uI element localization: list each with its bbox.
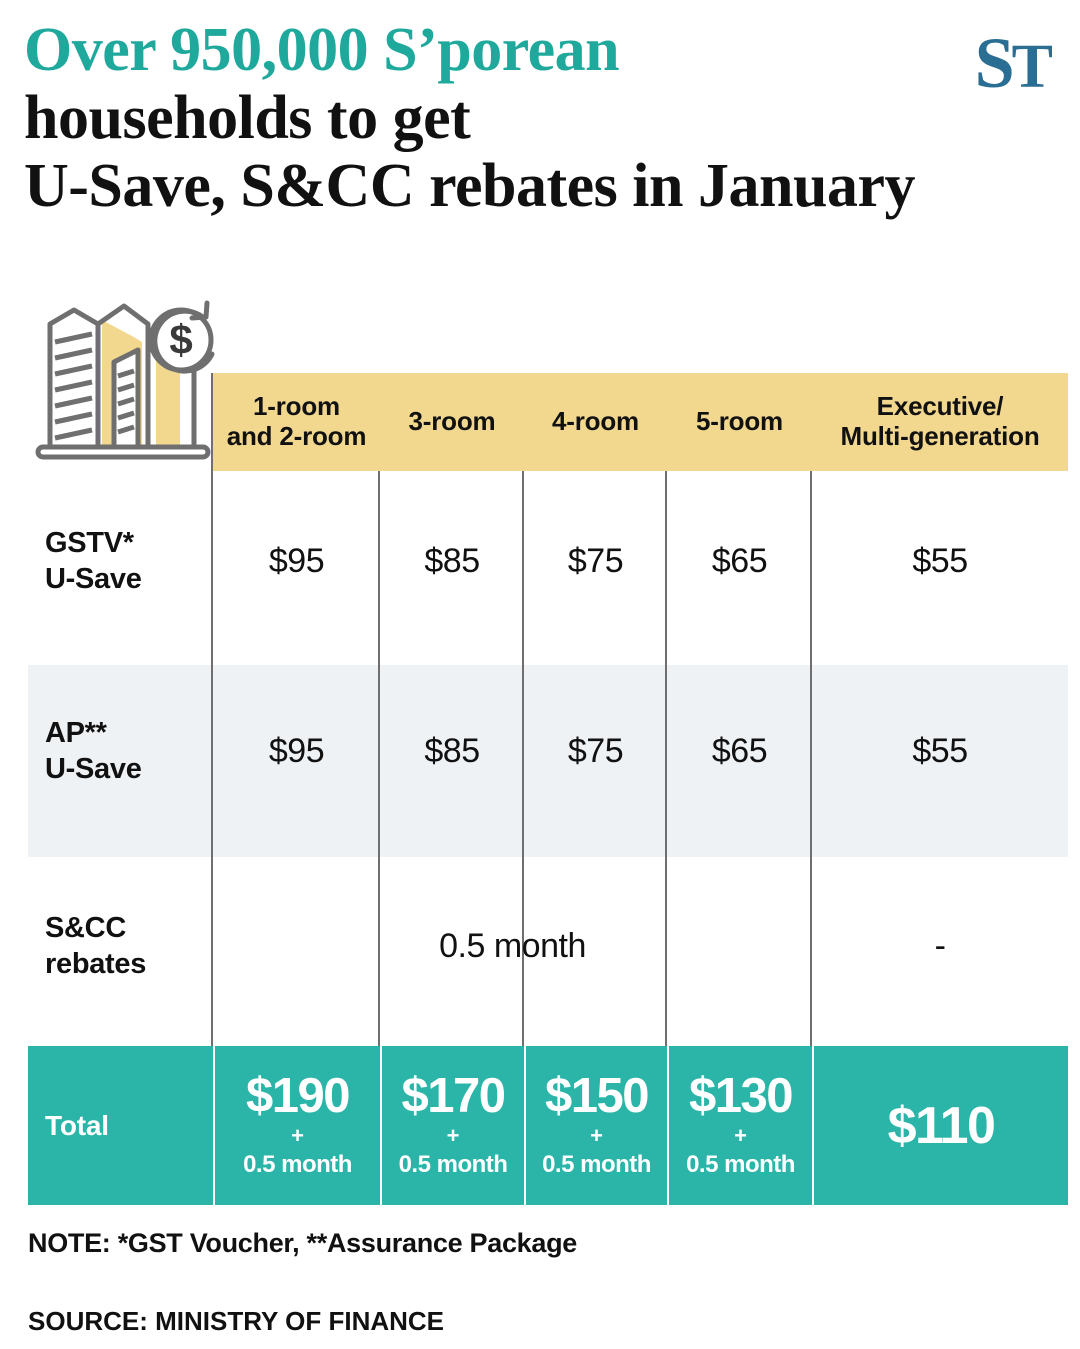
table-header-row: 1-room and 2-room 3-room 4-room 5-room E… — [213, 373, 1068, 471]
cell-gstv-4-room: $75 — [524, 471, 667, 651]
headline-line-2: households to get — [24, 84, 1044, 152]
cell-scc-merged-1-to-5-room: 0.5 month — [213, 851, 812, 1041]
cell-ap-executive: $55 — [812, 651, 1068, 851]
row-label-line1: GSTV* — [45, 525, 213, 561]
row-label-line2: U-Save — [45, 751, 213, 787]
cell-gstv-1-2-room: $95 — [213, 471, 380, 651]
cell-total-executive: $110 — [812, 1046, 1068, 1205]
logo-letter-s: S — [975, 23, 1012, 103]
logo-letter-t: T — [1012, 33, 1050, 101]
headline-line-3: U-Save, S&CC rebates in January — [24, 152, 1044, 220]
headline-line-1: Over 950,000 S’porean — [24, 16, 1044, 84]
column-header-line1: 3-room — [409, 407, 496, 437]
total-amount: $130 — [689, 1072, 792, 1121]
footnote-source: SOURCE: MINISTRY OF FINANCE — [28, 1306, 444, 1337]
row-label-line1: S&CC — [45, 910, 213, 946]
page-title: Over 950,000 S’porean households to get … — [24, 16, 1044, 221]
column-header-line2: and 2-room — [227, 422, 367, 452]
total-plus: + — [447, 1121, 460, 1152]
total-sub: 0.5 month — [243, 1152, 352, 1178]
column-header-line1: 1-room — [227, 392, 367, 422]
total-amount: $190 — [246, 1072, 349, 1121]
row-label-total: Total — [28, 1046, 213, 1205]
total-amount: $150 — [545, 1072, 648, 1121]
total-sub: 0.5 month — [542, 1152, 651, 1178]
row-label-scc-rebates: S&CC rebates — [0, 851, 213, 1041]
row-label-line2: rebates — [45, 946, 213, 982]
cell-ap-5-room: $65 — [667, 651, 812, 851]
row-label-line1: AP** — [45, 715, 213, 751]
cell-total-4-room: $150 + 0.5 month — [524, 1046, 667, 1205]
table-row: S&CC rebates 0.5 month - — [0, 851, 1080, 1041]
cell-total-3-room: $170 + 0.5 month — [380, 1046, 524, 1205]
total-sub: 0.5 month — [399, 1152, 508, 1178]
cell-gstv-executive: $55 — [812, 471, 1068, 651]
column-header-line1: 5-room — [696, 407, 783, 437]
row-label-gstv-usave: GSTV* U-Save — [0, 471, 213, 651]
straits-times-logo: ST — [950, 24, 1050, 102]
total-sub: 0.5 month — [686, 1152, 795, 1178]
cell-ap-4-room: $75 — [524, 651, 667, 851]
cell-gstv-3-room: $85 — [380, 471, 524, 651]
cell-total-1-2-room: $190 + 0.5 month — [213, 1046, 380, 1205]
column-header-executive-multigeneration: Executive/ Multi-generation — [812, 373, 1068, 471]
total-plus: + — [590, 1121, 603, 1152]
table-row: AP** U-Save $95 $85 $75 $65 $55 — [0, 651, 1080, 851]
column-header-line2: Multi-generation — [840, 422, 1039, 452]
cell-ap-3-room: $85 — [380, 651, 524, 851]
column-header-5-room: 5-room — [667, 373, 812, 471]
column-header-1-2-room: 1-room and 2-room — [213, 373, 380, 471]
cell-gstv-5-room: $65 — [667, 471, 812, 651]
rebates-table: 1-room and 2-room 3-room 4-room 5-room E… — [0, 373, 1080, 1205]
column-header-line1: 4-room — [552, 407, 639, 437]
row-label-line2: U-Save — [45, 561, 213, 597]
svg-text:$: $ — [169, 316, 192, 363]
row-label-ap-usave: AP** U-Save — [0, 651, 213, 851]
footnote-note: NOTE: *GST Voucher, **Assurance Package — [28, 1228, 577, 1259]
total-amount: $170 — [401, 1072, 504, 1121]
column-header-3-room: 3-room — [380, 373, 524, 471]
cell-scc-executive: - — [812, 851, 1068, 1041]
cell-ap-1-2-room: $95 — [213, 651, 380, 851]
column-header-line1: Executive/ — [840, 392, 1039, 422]
total-amount: $110 — [888, 1100, 995, 1152]
total-plus: + — [734, 1121, 747, 1152]
total-plus: + — [291, 1121, 304, 1152]
table-row-total: Total $190 + 0.5 month $170 + 0.5 month … — [28, 1046, 1068, 1205]
column-header-4-room: 4-room — [524, 373, 667, 471]
cell-total-5-room: $130 + 0.5 month — [667, 1046, 812, 1205]
table-row: GSTV* U-Save $95 $85 $75 $65 $55 — [0, 471, 1080, 651]
